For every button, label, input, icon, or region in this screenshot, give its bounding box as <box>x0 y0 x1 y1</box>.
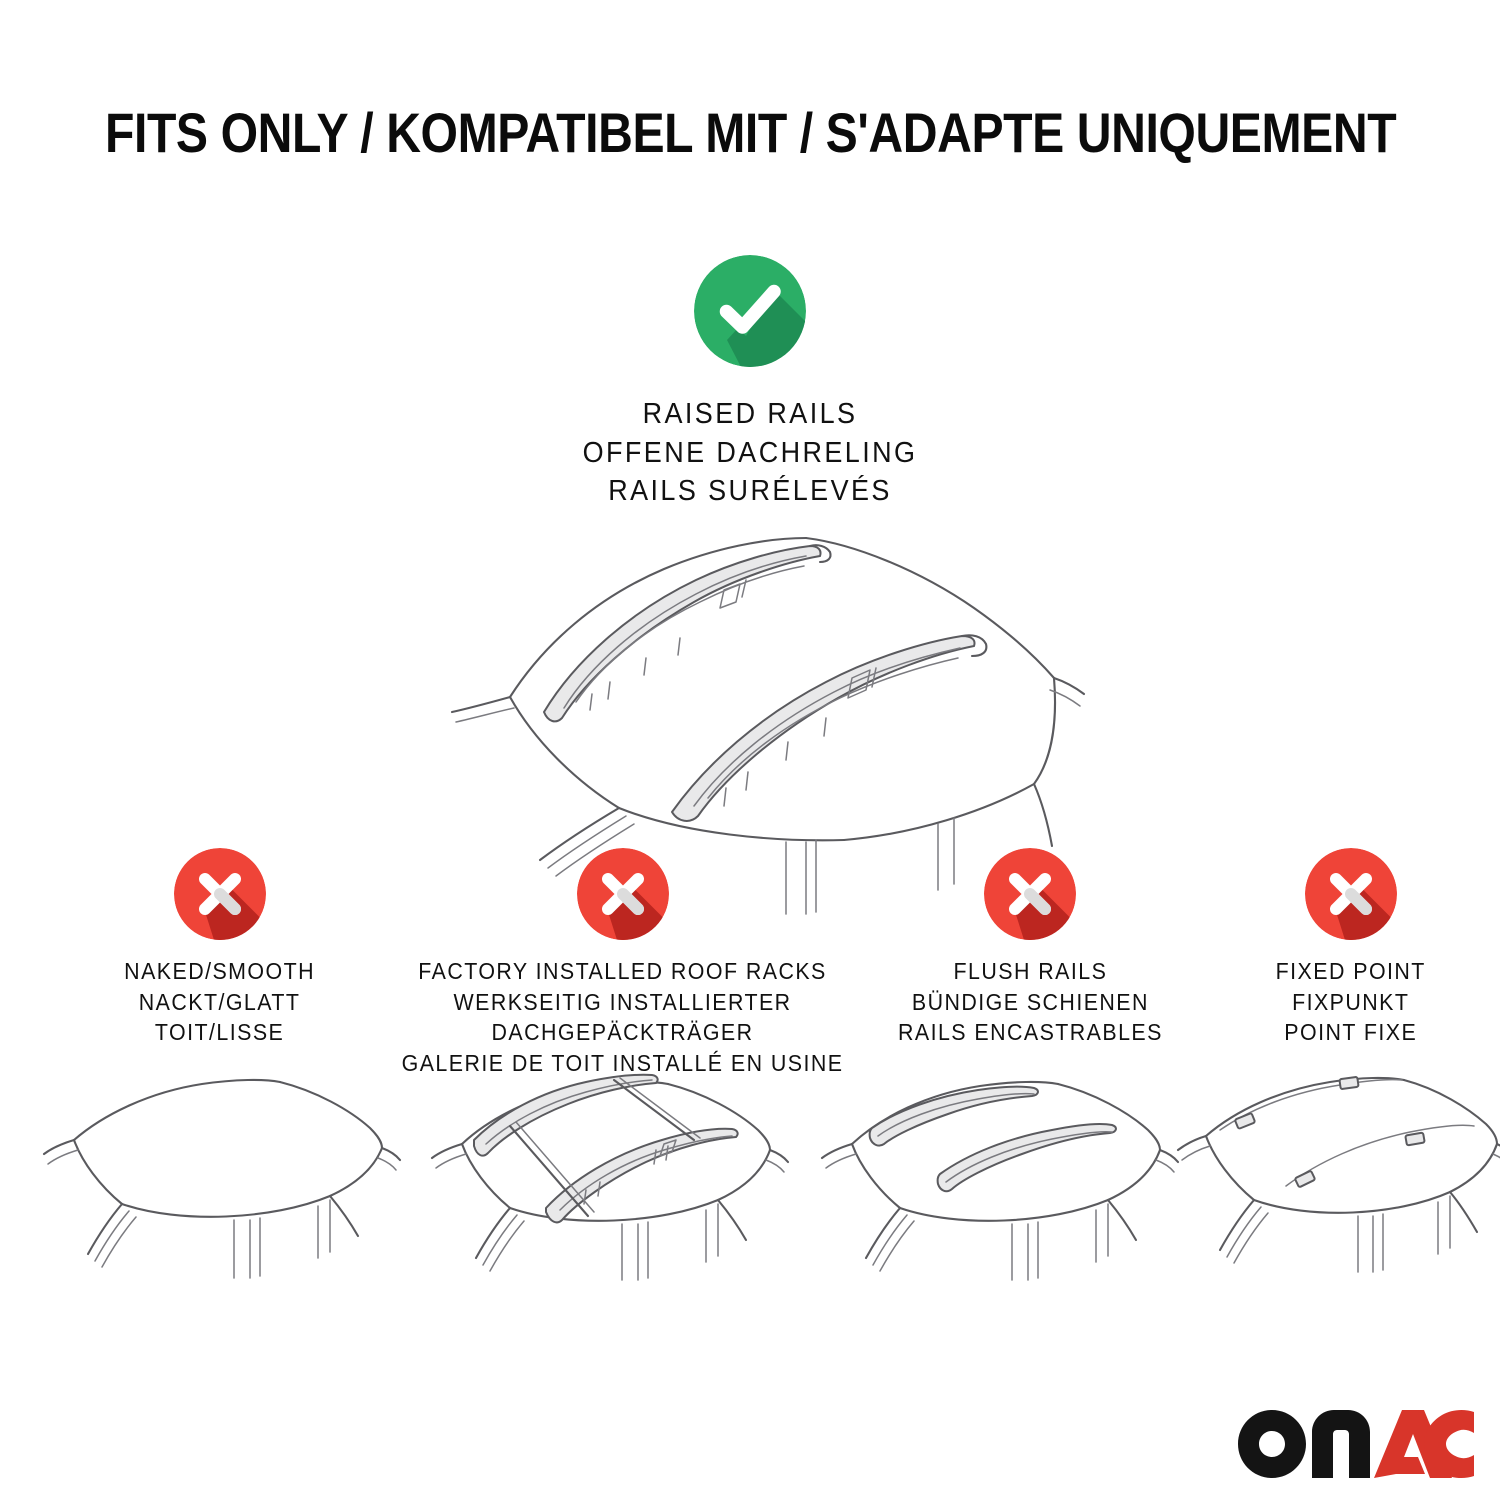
compatible-line-de: OFFENE DACHRELING <box>583 434 918 473</box>
incompatible-item-naked-smooth: NAKED/SMOOTH NACKT/GLATT TOIT/LISSE <box>50 848 390 1048</box>
label-line-en: NAKED/SMOOTH <box>125 956 316 987</box>
incompatible-labels: FIXED POINT FIXPUNKT POINT FIXE <box>1276 956 1426 1048</box>
red-x-circle-icon <box>984 848 1076 940</box>
car-roof-fixed-point-illustration <box>1168 1058 1500 1294</box>
green-check-circle-icon <box>694 255 806 367</box>
fitment-infographic: FITS ONLY / KOMPATIBEL MIT / S'ADAPTE UN… <box>0 0 1500 1500</box>
label-line-en: FLUSH RAILS <box>898 956 1163 987</box>
label-line-fr: POINT FIXE <box>1276 1017 1426 1048</box>
label-line-fr: TOIT/LISSE <box>125 1017 316 1048</box>
car-roof-with-flush-rails-illustration <box>808 1058 1180 1294</box>
incompatible-item-fixed-point: FIXED POINT FIXPUNKT POINT FIXE <box>1208 848 1494 1048</box>
logo-letter-o <box>1238 1410 1306 1478</box>
label-line-de: NACKT/GLATT <box>125 987 316 1018</box>
label-line-fr: RAILS ENCASTRABLES <box>898 1017 1163 1048</box>
omac-logo <box>1238 1410 1474 1478</box>
incompatible-item-flush-rails: FLUSH RAILS BÜNDIGE SCHIENEN RAILS ENCAS… <box>856 848 1204 1048</box>
car-roof-naked-smooth-illustration <box>30 1058 402 1294</box>
compatible-line-en: RAISED RAILS <box>583 395 918 434</box>
compatible-labels: RAISED RAILS OFFENE DACHRELING RAILS SUR… <box>583 395 918 511</box>
label-line-de-1: WERKSEITIG INSTALLIERTER <box>402 987 844 1018</box>
compatible-line-fr: RAILS SURÉLEVÉS <box>583 472 918 511</box>
label-line-de: BÜNDIGE SCHIENEN <box>898 987 1163 1018</box>
car-roof-with-raised-rails-illustration <box>414 512 1086 852</box>
label-line-en: FACTORY INSTALLED ROOF RACKS <box>402 956 844 987</box>
label-line-de: FIXPUNKT <box>1276 987 1426 1018</box>
red-x-circle-icon <box>1305 848 1397 940</box>
logo-letter-m <box>1312 1410 1370 1478</box>
incompatible-labels: FLUSH RAILS BÜNDIGE SCHIENEN RAILS ENCAS… <box>898 956 1163 1048</box>
page-title: FITS ONLY / KOMPATIBEL MIT / S'ADAPTE UN… <box>105 104 1395 163</box>
label-line-de-2: DACHGEPÄCKTRÄGER <box>402 1017 844 1048</box>
incompatible-labels: NAKED/SMOOTH NACKT/GLATT TOIT/LISSE <box>125 956 316 1048</box>
red-x-circle-icon <box>577 848 669 940</box>
label-line-en: FIXED POINT <box>1276 956 1426 987</box>
incompatible-item-factory-roof-racks: FACTORY INSTALLED ROOF RACKS WERKSEITIG … <box>400 848 846 1078</box>
car-roof-with-factory-crossbars-illustration <box>418 1058 790 1294</box>
compatible-block: RAISED RAILS OFFENE DACHRELING RAILS SUR… <box>0 255 1500 511</box>
red-x-circle-icon <box>174 848 266 940</box>
